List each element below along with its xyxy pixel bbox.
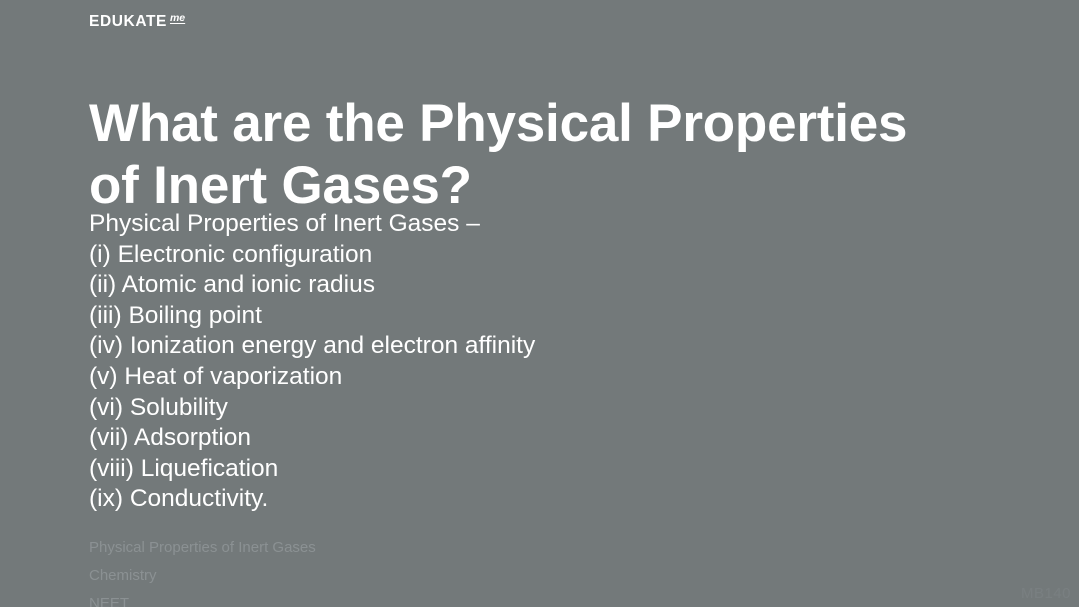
footer-topic: Physical Properties of Inert Gases — [89, 534, 316, 562]
slide-footer: Physical Properties of Inert Gases Chemi… — [89, 534, 316, 607]
list-item: (vii) Adsorption — [89, 423, 989, 454]
page-title-line-2: of Inert Gases? — [89, 155, 1019, 217]
footer-exam: NEET — [89, 590, 316, 607]
list-item: (vi) Solubility — [89, 393, 989, 424]
page-title-line-1: What are the Physical Properties — [89, 93, 1019, 155]
list-item: (ix) Conductivity. — [89, 484, 989, 515]
brand-name: EDUKATE — [89, 14, 167, 30]
list-item: (iii) Boiling point — [89, 301, 989, 332]
brand-superscript: me — [170, 13, 185, 24]
page-title: What are the Physical Properties of Iner… — [89, 93, 1019, 217]
list-item: (ii) Atomic and ionic radius — [89, 270, 989, 301]
footer-subject: Chemistry — [89, 562, 316, 590]
list-item: (v) Heat of vaporization — [89, 362, 989, 393]
list-item: (viii) Liquefication — [89, 454, 989, 485]
watermark-label: MB140 — [1021, 586, 1071, 601]
content-heading: Physical Properties of Inert Gases – — [89, 209, 989, 240]
list-item: (iv) Ionization energy and electron affi… — [89, 331, 989, 362]
brand-logo: EDUKATE me — [89, 14, 185, 30]
slide-canvas: EDUKATE me What are the Physical Propert… — [0, 0, 1079, 607]
list-item: (i) Electronic configuration — [89, 240, 989, 271]
content-body: Physical Properties of Inert Gases – (i)… — [89, 209, 989, 515]
